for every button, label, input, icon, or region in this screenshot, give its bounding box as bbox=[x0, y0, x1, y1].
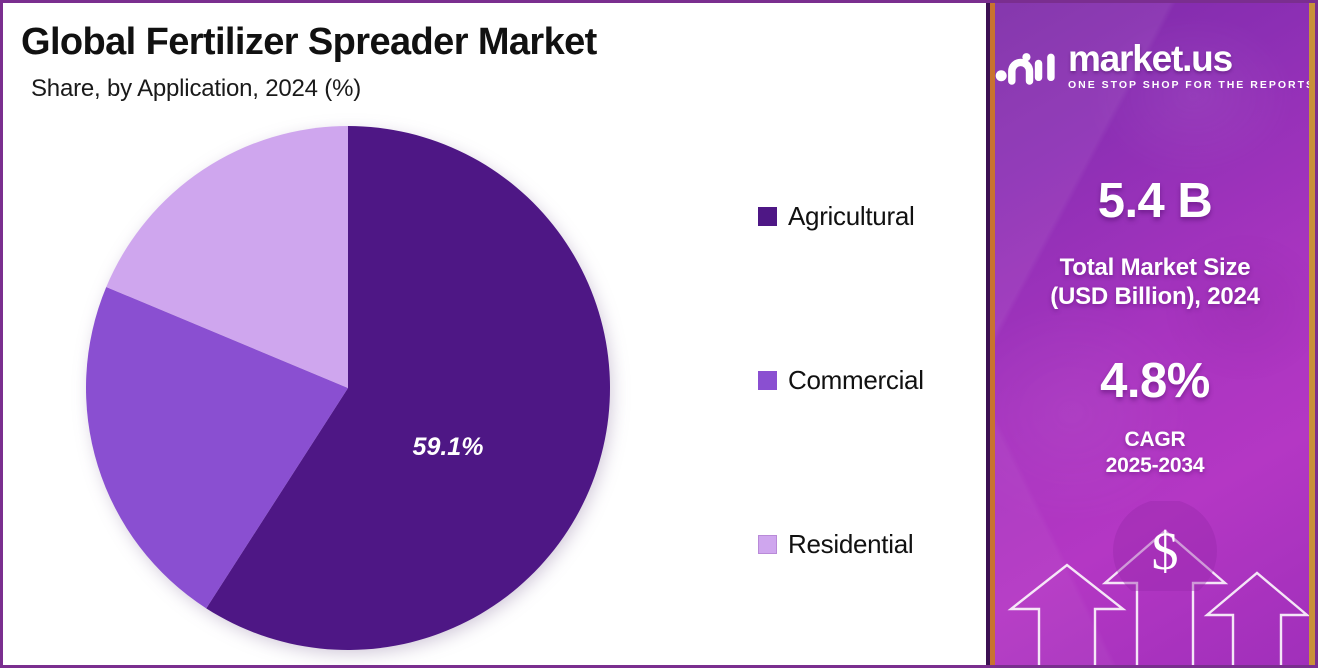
market-size-value: 5.4 B bbox=[995, 173, 1315, 229]
pie-chart-svg: 59.1% bbox=[85, 125, 611, 651]
pie-slice-data-label: 59.1% bbox=[413, 433, 484, 461]
cagr-caption: CAGR 2025-2034 bbox=[995, 427, 1315, 478]
market-size-caption-line2: (USD Billion), 2024 bbox=[1050, 283, 1260, 310]
legend-item-agricultural[interactable]: Agricultural bbox=[758, 201, 914, 232]
legend-swatch-agricultural bbox=[758, 207, 777, 226]
brand-logo[interactable]: market.us ONE STOP SHOP FOR THE REPORTS bbox=[995, 33, 1315, 99]
legend-swatch-residential bbox=[758, 535, 777, 554]
legend-label-residential: Residential bbox=[788, 529, 913, 560]
logo-tagline: ONE STOP SHOP FOR THE REPORTS bbox=[1068, 79, 1315, 91]
logo-wordmark: market.us bbox=[1068, 41, 1232, 77]
infographic-page: Global Fertilizer Spreader Market Share,… bbox=[0, 0, 1318, 668]
legend-swatch-commercial bbox=[758, 371, 777, 390]
legend-label-commercial: Commercial bbox=[788, 365, 924, 396]
cagr-caption-line1: CAGR bbox=[1124, 428, 1185, 451]
cagr-caption-line2: 2025-2034 bbox=[1106, 454, 1205, 477]
legend-label-agricultural: Agricultural bbox=[788, 201, 914, 232]
sidebar-gold-edge bbox=[1309, 3, 1315, 665]
dollar-badge: $ bbox=[995, 501, 1315, 591]
market-size-caption: Total Market Size (USD Billion), 2024 bbox=[995, 253, 1315, 312]
pie-chart: 59.1% bbox=[85, 125, 611, 651]
stats-sidebar: $ market.us ONE STOP SHOP FOR THE REPORT… bbox=[995, 3, 1315, 665]
legend-item-residential[interactable]: Residential bbox=[758, 529, 913, 560]
chart-legend: Agricultural Commercial Residential bbox=[758, 133, 978, 613]
cagr-value: 4.8% bbox=[995, 353, 1315, 409]
page-subtitle: Share, by Application, 2024 (%) bbox=[31, 75, 361, 103]
pie-slice-group bbox=[86, 126, 610, 650]
chart-panel: Global Fertilizer Spreader Market Share,… bbox=[3, 3, 989, 665]
legend-item-commercial[interactable]: Commercial bbox=[758, 365, 924, 396]
market-us-logo-icon bbox=[995, 43, 1057, 89]
dollar-sign-icon: $ bbox=[1152, 521, 1179, 581]
market-size-caption-line1: Total Market Size bbox=[1060, 254, 1251, 281]
page-title: Global Fertilizer Spreader Market bbox=[21, 21, 597, 64]
